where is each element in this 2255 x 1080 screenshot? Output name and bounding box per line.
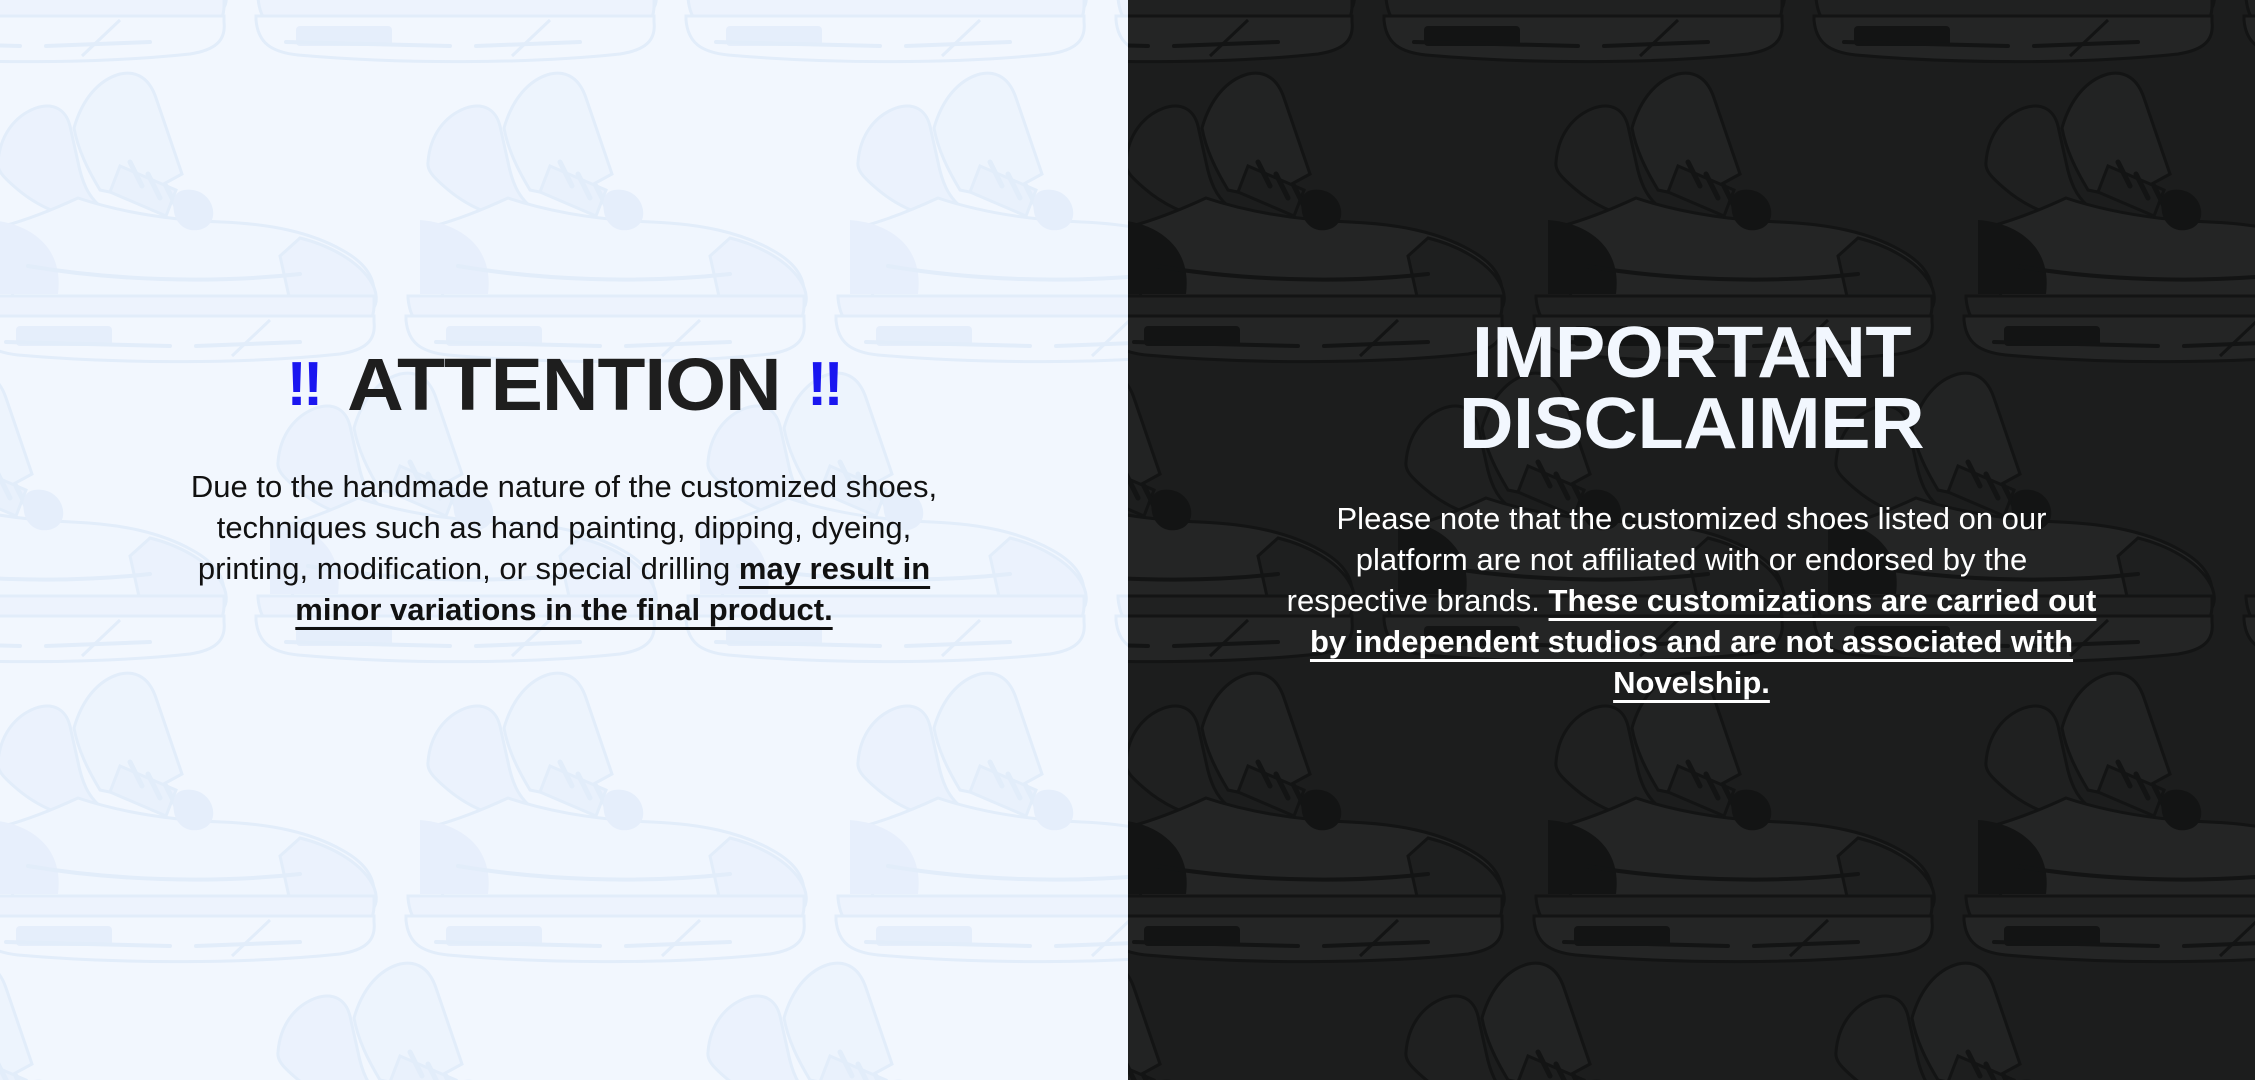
disclaimer-heading-line2: DISCLAIMER	[1459, 389, 1924, 460]
attention-body: Due to the handmade nature of the custom…	[164, 467, 964, 631]
disclaimer-heading-line1: IMPORTANT	[1472, 318, 1911, 389]
double-exclamation-icon-right: ‼	[808, 354, 842, 416]
double-exclamation-icon-left: ‼	[287, 354, 321, 416]
attention-panel: ‼ ATTENTION ‼ Due to the handmade nature…	[0, 0, 1128, 1080]
disclaimer-body: Please note that the customized shoes li…	[1282, 499, 2102, 704]
disclaimer-heading: IMPORTANT DISCLAIMER	[1459, 318, 1924, 459]
disclaimer-panel: IMPORTANT DISCLAIMER Please note that th…	[1128, 0, 2255, 1080]
disclaimer-banner: ‼ ATTENTION ‼ Due to the handmade nature…	[0, 0, 2255, 1080]
attention-heading: ‼ ATTENTION ‼	[285, 348, 842, 422]
attention-heading-text: ATTENTION	[347, 348, 780, 422]
